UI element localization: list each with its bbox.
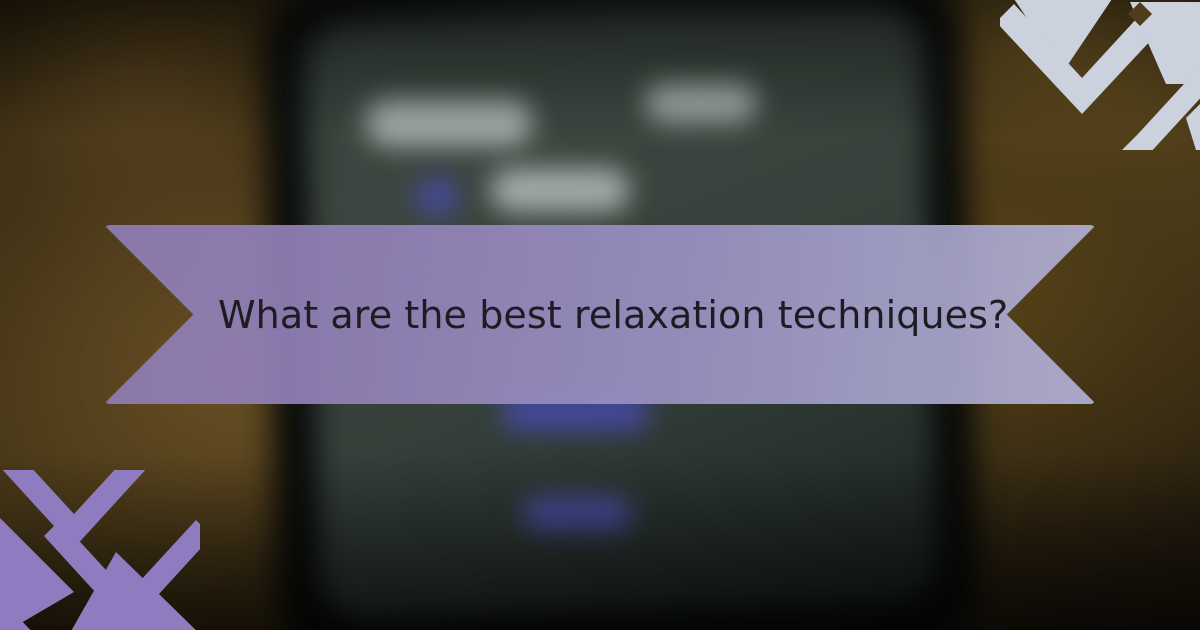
headline-text: What are the best relaxation techniques? — [218, 225, 996, 404]
outgoing-bubble-1 — [645, 82, 757, 122]
avatar-dot — [416, 178, 458, 216]
outgoing-bubble-3 — [522, 497, 632, 531]
headline-banner: What are the best relaxation techniques? — [104, 225, 1096, 404]
social-card: What are the best relaxation techniques? — [0, 0, 1200, 630]
incoming-bubble-1 — [365, 98, 533, 146]
incoming-bubble-2 — [490, 168, 630, 212]
